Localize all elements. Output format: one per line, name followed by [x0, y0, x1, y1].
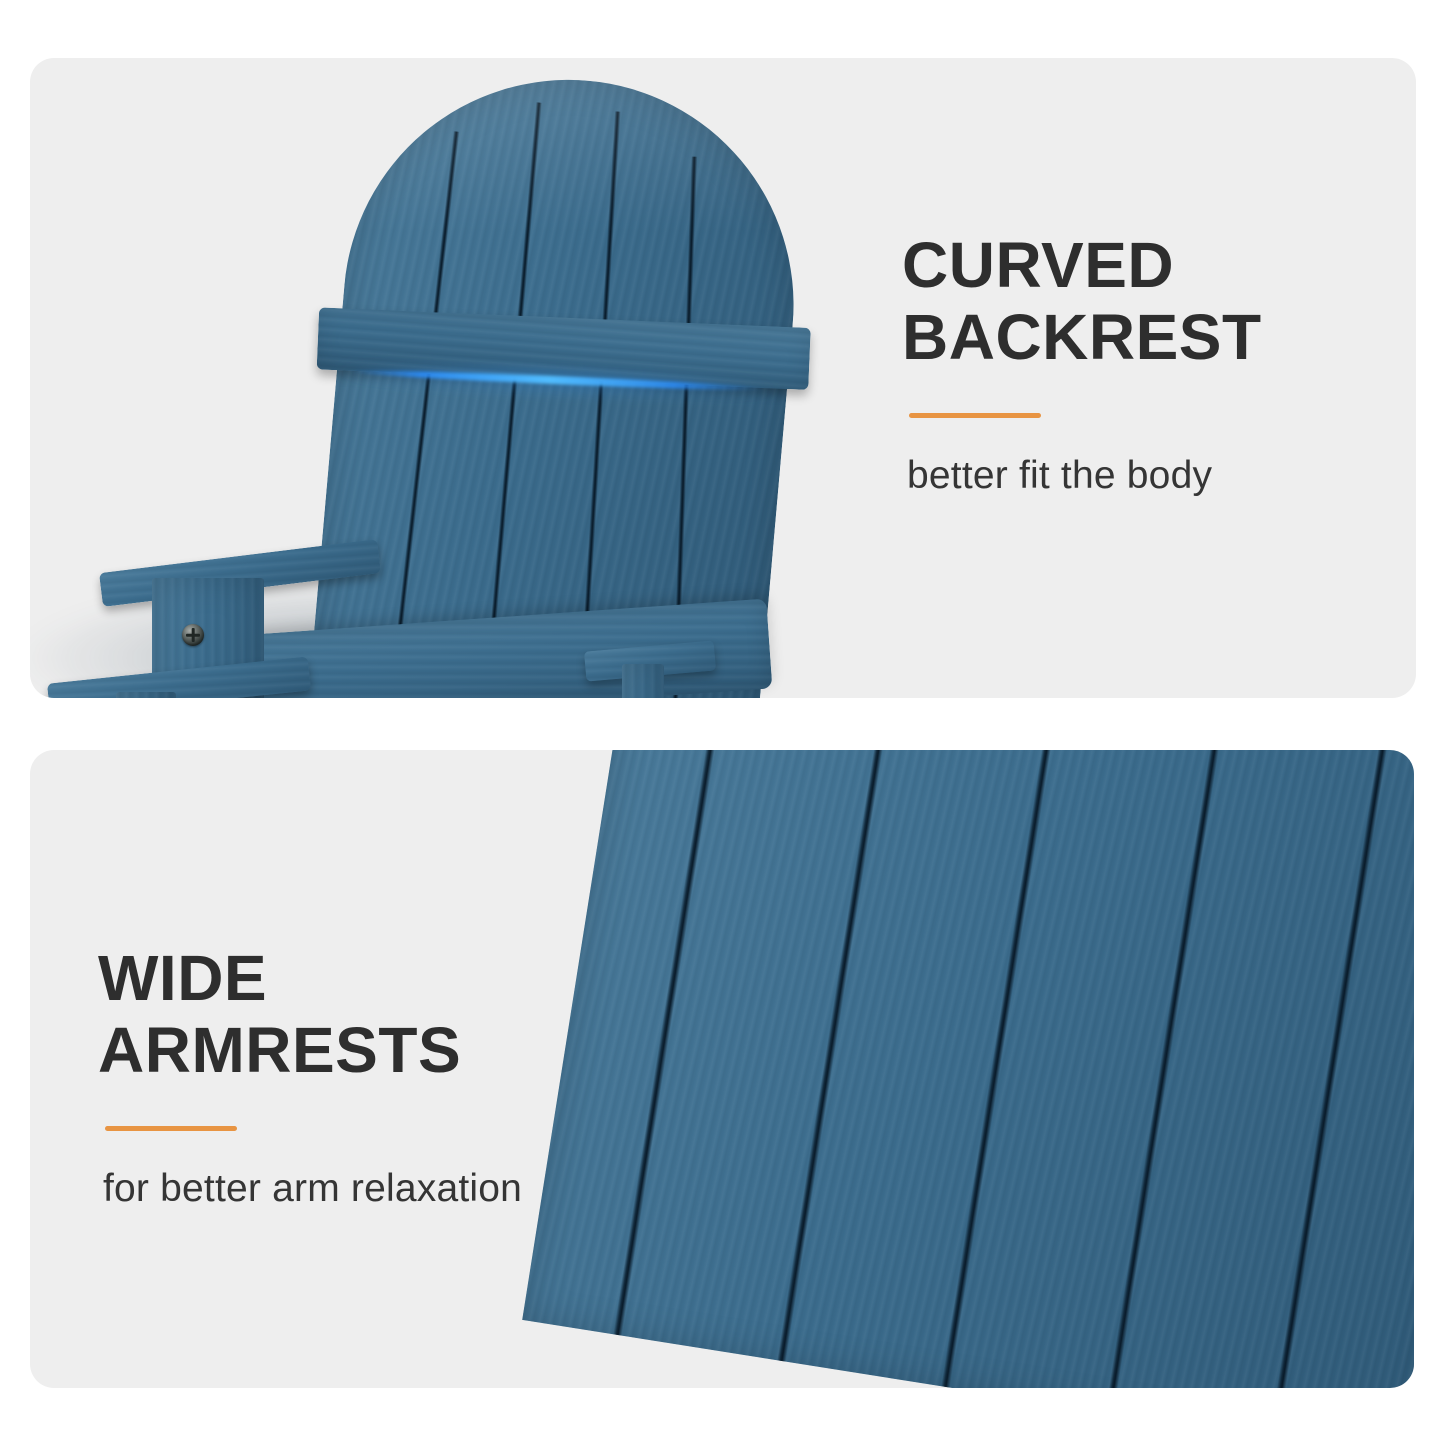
infographic-canvas: CURVED BACKREST better fit the body WIDE…	[0, 0, 1445, 1445]
chair-backrest-slab	[522, 750, 1414, 1388]
backrest-top-highlight	[342, 61, 812, 349]
feature-headline: CURVED BACKREST	[902, 230, 1402, 373]
feature-subline: better fit the body	[907, 454, 1402, 498]
feature-text-curved-backrest: CURVED BACKREST better fit the body	[902, 230, 1402, 498]
chair-armrest-support-right	[622, 664, 664, 698]
chair-armrest-support-lower	[116, 692, 176, 698]
orange-divider-icon	[909, 413, 1041, 418]
product-photo-wide-armrests	[30, 750, 1414, 1388]
feature-panel-wide-armrests: WIDE ARMRESTS for better arm relaxation	[30, 750, 1414, 1388]
feature-panel-curved-backrest: CURVED BACKREST better fit the body	[30, 58, 1416, 698]
screw-head	[182, 624, 204, 646]
